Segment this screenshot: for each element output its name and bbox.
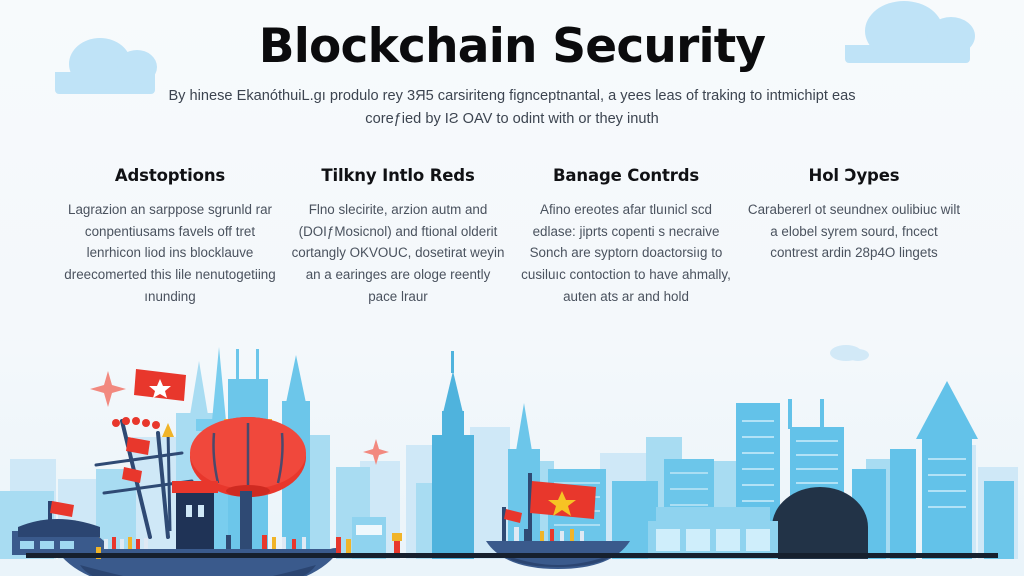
waterfront-structures (648, 507, 778, 559)
poster-header: Blockchain Security By hinese EkanóthuiL… (0, 0, 1024, 132)
column-3-body: Afino ereotes afar tluınicl scd edlase: … (518, 199, 734, 308)
feature-column-3: Banage Contrds Afino ereotes afar tluıni… (518, 166, 734, 308)
column-4-heading: Hol Ɔypes (746, 166, 962, 185)
boat-cabin (172, 481, 218, 553)
feature-column-4: Hol Ɔypes Carabererl ot seundnex oulibiu… (746, 166, 962, 308)
feature-column-1: Adstoptions Lagrazion an sarppose sgrunl… (62, 166, 278, 308)
page-title: Blockchain Security (0, 22, 1024, 73)
column-2-heading: Tilkny Intlo Reds (290, 166, 506, 185)
red-flag-yellow-star (530, 481, 596, 519)
column-2-body: Flno slecirite, arzion autm and (DOIƒMos… (290, 199, 506, 308)
feature-column-2: Tilkny Intlo Reds Flno slecirite, arzion… (290, 166, 506, 308)
column-4-body: Carabererl ot seundnex oulibiuc wilt a e… (746, 199, 962, 264)
city-skyline-illustration (0, 341, 1024, 576)
column-1-body: Lagrazion an sarppose sgrunld rar conpen… (62, 199, 278, 308)
ground-baseline (26, 553, 998, 558)
poster-subtitle: By hinese EkanóthuiL.gı produlo rey 3Я5 … (167, 85, 857, 132)
feature-columns: Adstoptions Lagrazion an sarppose sgrunl… (62, 166, 962, 308)
column-1-heading: Adstoptions (62, 166, 278, 185)
column-3-heading: Banage Contrds (518, 166, 734, 185)
poster-canvas: Blockchain Security By hinese EkanóthuiL… (0, 0, 1024, 576)
